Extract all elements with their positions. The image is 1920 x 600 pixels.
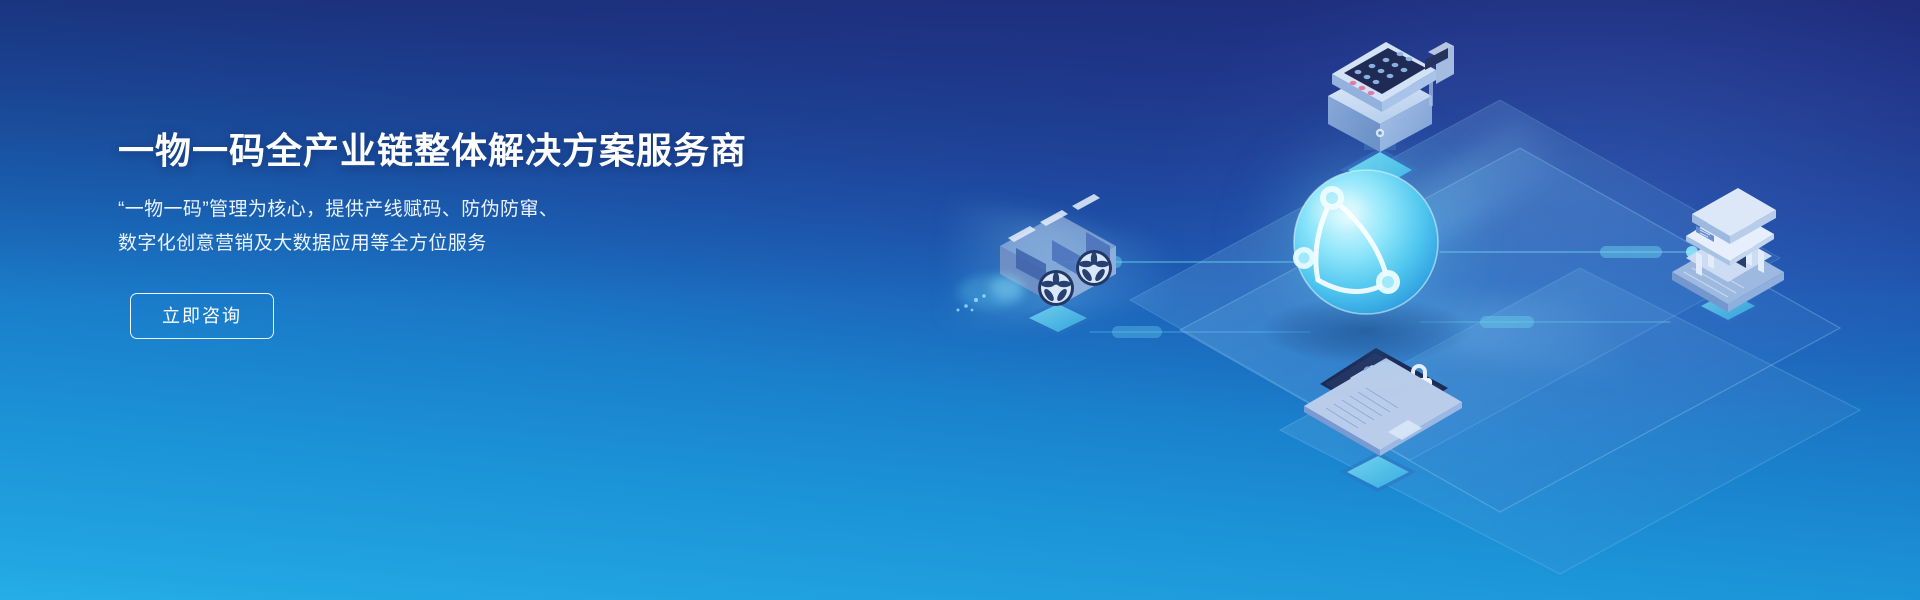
hero-subtitle-line-1: “一物一码”管理为核心，提供产线赋码、防伪防窜、 xyxy=(118,193,818,227)
data-flow-lines xyxy=(1055,120,1720,430)
columns xyxy=(1696,238,1764,276)
isometric-platform xyxy=(1130,100,1860,574)
consult-now-button[interactable]: 立即咨询 xyxy=(130,293,274,339)
hero-subtitle: “一物一码”管理为核心，提供产线赋码、防伪防窜、 数字化创意营销及大数据应用等全… xyxy=(118,193,818,261)
server-fan-rack-icon xyxy=(957,194,1117,336)
pos-terminal-icon xyxy=(1328,42,1454,192)
hero-subtitle-line-2: 数字化创意营销及大数据应用等全方位服务 xyxy=(118,227,818,261)
glowing-network-sphere xyxy=(1248,124,1484,364)
bank-building-icon xyxy=(1672,188,1784,324)
pos-terminal-pad xyxy=(1340,148,1420,192)
background-glow-corner xyxy=(1140,0,1920,480)
document-lines xyxy=(1361,376,1387,390)
airflow-glow xyxy=(957,275,1027,312)
laptop-lock-icon xyxy=(1304,348,1462,492)
hero-copy: 一物一码全产业链整体解决方案服务商 “一物一码”管理为核心，提供产线赋码、防伪防… xyxy=(118,128,818,339)
cooling-fan-icon xyxy=(1076,250,1112,286)
hero-banner: 一物一码全产业链整体解决方案服务商 “一物一码”管理为核心，提供产线赋码、防伪防… xyxy=(0,0,1920,600)
light-beams xyxy=(940,120,1640,380)
isometric-illustration xyxy=(880,0,1920,600)
sphere-nodes xyxy=(1293,186,1400,294)
cooling-fan-icon xyxy=(1038,270,1074,306)
page-title: 一物一码全产业链整体解决方案服务商 xyxy=(118,128,818,173)
padlock-icon xyxy=(1406,364,1432,400)
